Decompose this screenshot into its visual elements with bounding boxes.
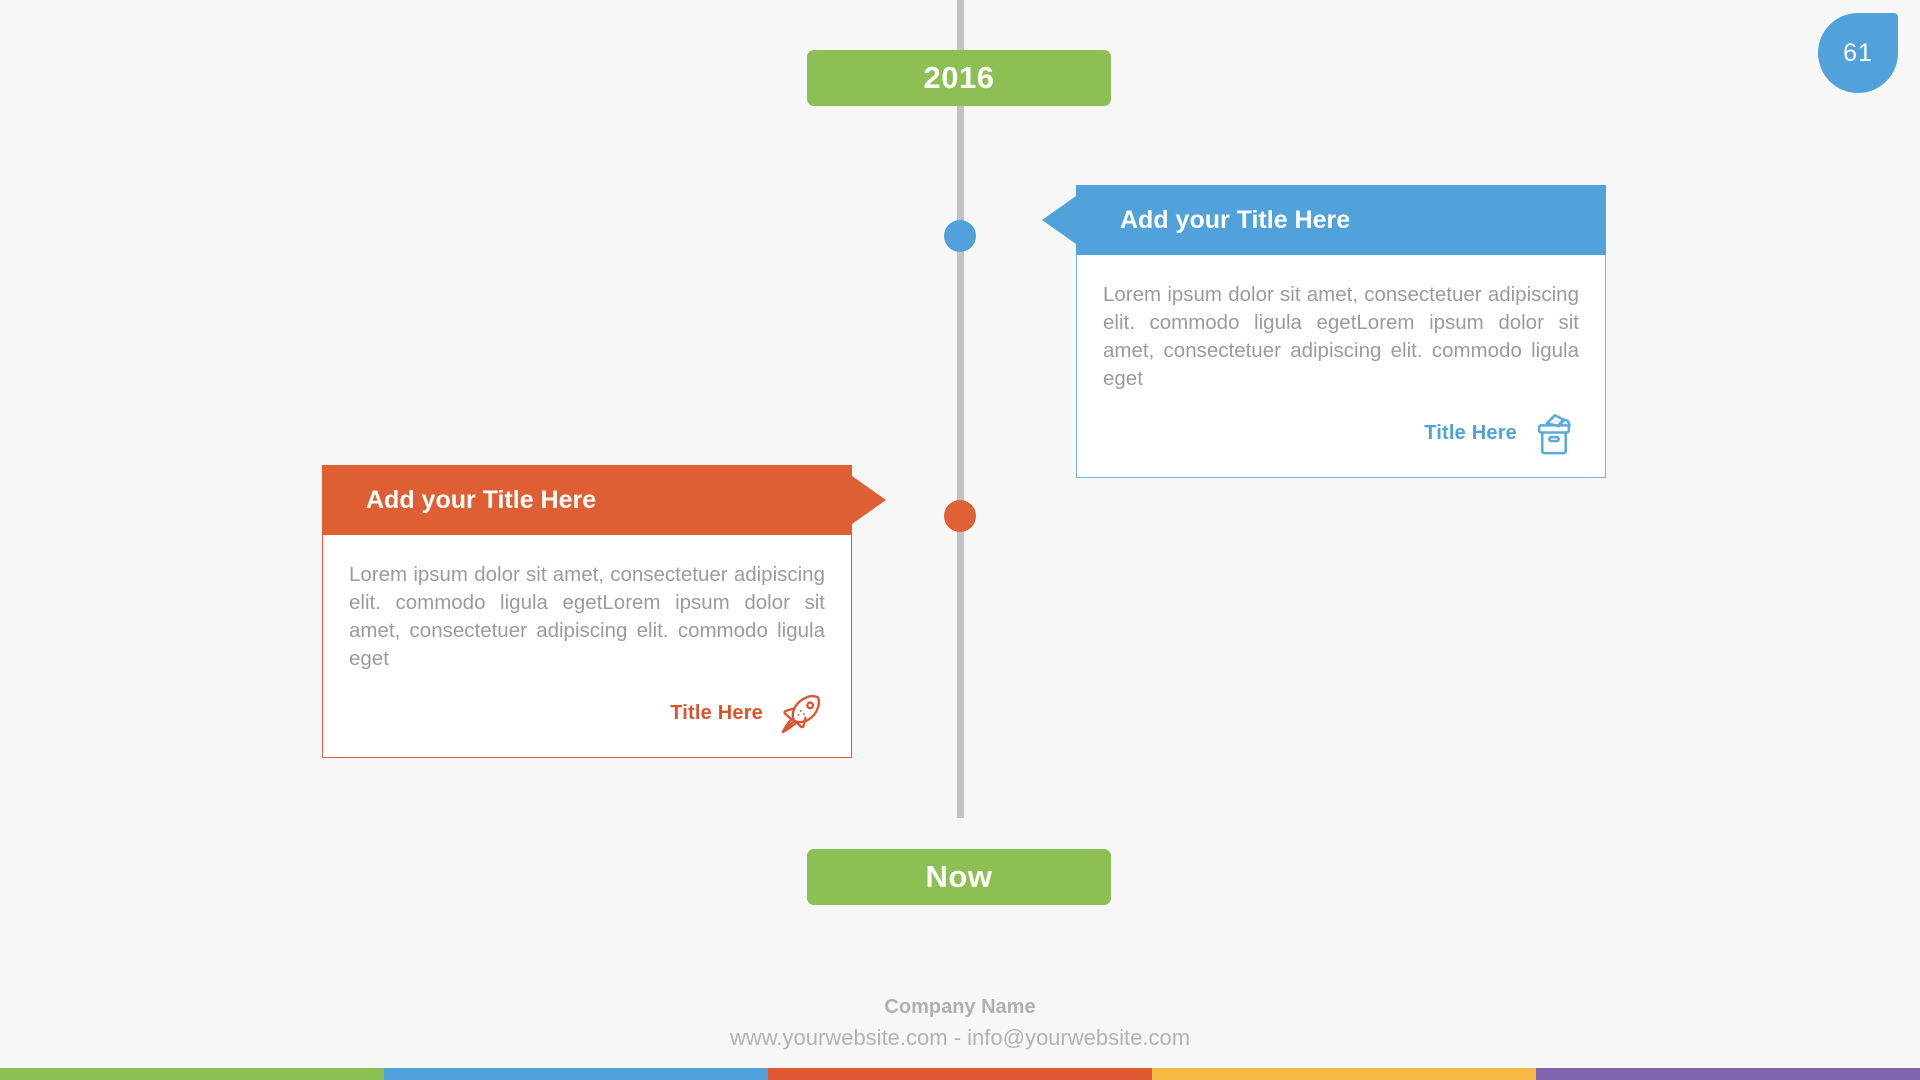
rocket-icon: [775, 689, 825, 739]
card-right-footer-label: Title Here: [1424, 422, 1517, 445]
card-left-title: Add your Title Here: [366, 486, 596, 515]
card-left-header: Add your Title Here: [322, 465, 852, 535]
page-number-label: 61: [1843, 39, 1873, 68]
archive-box-icon: [1529, 409, 1579, 459]
color-strip-segment-5: [1536, 1068, 1920, 1080]
card-right-footer: Title Here: [1103, 393, 1579, 459]
timeline-marker-blue[interactable]: [944, 220, 976, 252]
color-strip-segment-4: [1152, 1068, 1536, 1080]
card-left-pointer-icon: [852, 476, 886, 524]
card-right-title: Add your Title Here: [1120, 206, 1350, 235]
card-left-body: Lorem ipsum dolor sit amet, consectetuer…: [322, 535, 852, 758]
timeline-end-label: Now: [926, 859, 993, 895]
footer-company-name: Company Name: [0, 993, 1920, 1022]
color-strip-segment-2: [384, 1068, 768, 1080]
bottom-color-strip: [0, 1068, 1920, 1080]
timeline-start-badge[interactable]: 2016: [807, 50, 1111, 106]
color-strip-segment-1: [0, 1068, 384, 1080]
page-number-badge: 61: [1818, 13, 1898, 93]
card-left-footer: Title Here: [349, 673, 825, 739]
card-left-text: Lorem ipsum dolor sit amet, consectetuer…: [349, 561, 825, 673]
timeline-card-right[interactable]: Add your Title Here Lorem ipsum dolor si…: [1076, 185, 1606, 478]
card-right-header: Add your Title Here: [1076, 185, 1606, 255]
timeline-marker-orange[interactable]: [944, 500, 976, 532]
card-left-footer-label: Title Here: [670, 702, 763, 725]
color-strip-segment-3: [768, 1068, 1152, 1080]
timeline-axis: [957, 0, 964, 818]
timeline-start-label: 2016: [924, 60, 995, 96]
timeline-card-left[interactable]: Add your Title Here Lorem ipsum dolor si…: [322, 465, 852, 758]
slide-footer: Company Name www.yourwebsite.com - info@…: [0, 993, 1920, 1054]
footer-contact-info: www.yourwebsite.com - info@yourwebsite.c…: [0, 1022, 1920, 1054]
timeline-end-badge[interactable]: Now: [807, 849, 1111, 905]
card-right-pointer-icon: [1042, 196, 1076, 244]
card-right-text: Lorem ipsum dolor sit amet, consectetuer…: [1103, 281, 1579, 393]
card-right-body: Lorem ipsum dolor sit amet, consectetuer…: [1076, 255, 1606, 478]
